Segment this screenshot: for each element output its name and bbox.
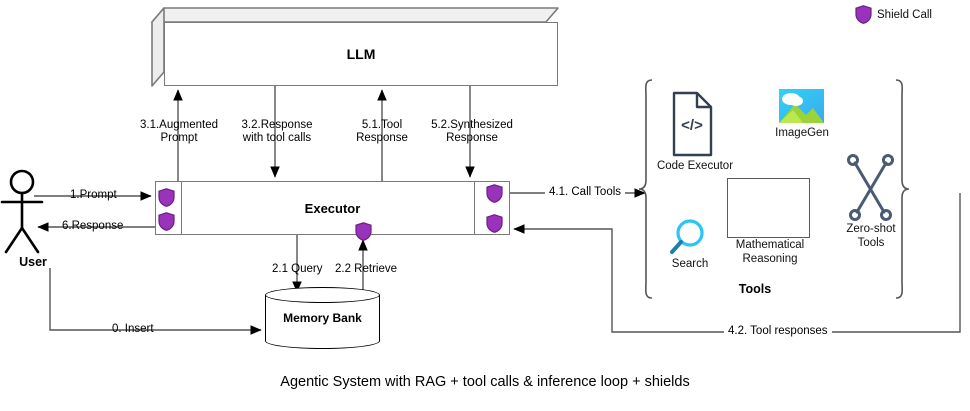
tool-search[interactable]: Search (660, 258, 720, 271)
tool-mathematical-reasoning-label: Mathematical Reasoning (720, 238, 820, 266)
image-picture-icon (779, 89, 824, 123)
tool-mathematical-reasoning[interactable]: Mathematical Reasoning (720, 238, 820, 266)
edge-label-response-tool-calls-line2: with tool calls (232, 132, 322, 145)
shield-icon-legend (855, 5, 872, 24)
magnifier-icon (672, 221, 702, 252)
llm-face: LLM (164, 22, 558, 86)
edge-label-insert: 0. Insert (112, 323, 154, 336)
edge-label-tool-response-line2: Response (344, 132, 420, 145)
executor-label: Executor (156, 201, 509, 216)
shield-icon-executor-in-top (158, 188, 175, 207)
edge-label-tool-response-line1: 5.1.Tool (344, 119, 420, 132)
tool-zero-shot-tools-label: Zero-shot Tools (833, 222, 909, 250)
legend-label: Shield Call (877, 9, 932, 21)
edge-label-tool-responses: 4.2. Tool responses (724, 325, 832, 338)
edge-label-synthesized-response-line2: Response (426, 132, 518, 145)
tool-imagegen[interactable]: ImageGen (762, 127, 842, 140)
edge-label-call-tools: 4.1. Call Tools (545, 186, 625, 199)
llm-node: LLM (152, 8, 558, 86)
user-label: User (4, 255, 62, 269)
memory-bank-node: Memory Bank (265, 287, 380, 349)
shield-icon-executor-out-bottom (486, 214, 503, 233)
shield-icon-executor-in-bottom (158, 212, 175, 231)
memory-bank-label: Memory Bank (265, 311, 380, 325)
tools-group-label: Tools (700, 282, 810, 296)
edge-label-synthesized-response: 5.2.Synthesized Response (426, 119, 518, 145)
llm-label: LLM (347, 46, 376, 62)
diagram-caption: Agentic System with RAG + tool calls & i… (0, 374, 970, 390)
executor-node: Executor (155, 181, 510, 235)
edge-label-response-tool-calls: 3.2.Response with tool calls (232, 119, 322, 145)
tool-imagegen-label: ImageGen (762, 127, 842, 140)
edge-label-response-tool-calls-line1: 3.2.Response (232, 119, 322, 132)
code-document-icon: </> (674, 93, 711, 155)
edge-label-tool-response: 5.1.Tool Response (344, 119, 420, 145)
edge-label-augmented-prompt-line1: 3.1.Augmented (136, 119, 222, 132)
crossed-wrenches-icon (849, 156, 893, 220)
edge-label-augmented-prompt: 3.1.Augmented Prompt (136, 119, 222, 145)
edge-label-synthesized-response-line1: 5.2.Synthesized (426, 119, 518, 132)
edge-label-augmented-prompt-line2: Prompt (136, 132, 222, 145)
edge-label-prompt: 1.Prompt (70, 189, 117, 202)
shield-icon-executor-out-top (486, 184, 503, 203)
tool-code-executor-label: Code Executor (650, 160, 740, 173)
shield-icon-executor-center (355, 222, 372, 241)
memory-bank-top (265, 287, 380, 303)
edge-label-query: 2.1 Query (272, 263, 323, 276)
edge-label-response: 6.Response (62, 220, 123, 233)
formula-document-icon (727, 178, 810, 238)
edge-label-retrieve: 2.2 Retrieve (335, 263, 397, 276)
legend: Shield Call (855, 5, 965, 27)
tool-search-label: Search (660, 258, 720, 271)
tool-zero-shot-tools[interactable]: Zero-shot Tools (833, 222, 909, 250)
svg-text:</>: </> (681, 117, 703, 134)
tool-code-executor[interactable]: Code Executor (650, 160, 740, 173)
